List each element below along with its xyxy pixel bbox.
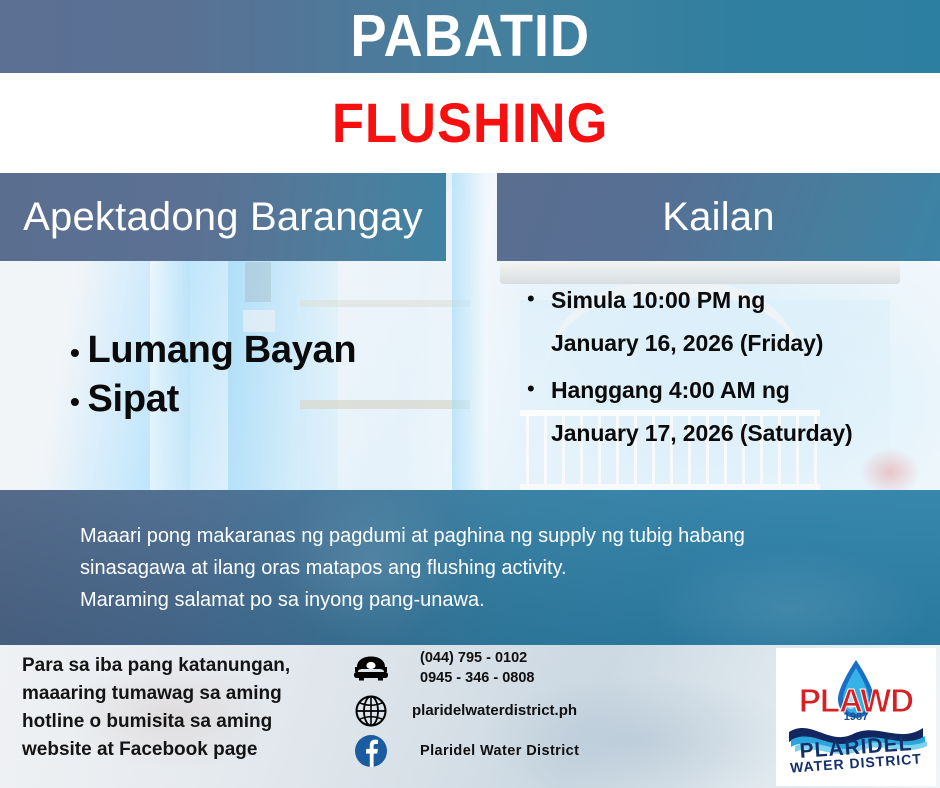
notice-line-1: Maaari pong makaranas ng pagdumi at pagh… bbox=[80, 520, 745, 552]
schedule-start-date: January 16, 2026 (Friday) bbox=[551, 322, 823, 365]
bullet-icon: • bbox=[527, 369, 551, 455]
column-header-left-label: Apektadong Barangay bbox=[23, 195, 423, 239]
plawd-logo: PLAWD 1987 PLARIDEL WATER DISTRICT bbox=[776, 648, 936, 786]
page-title: PABATID bbox=[350, 7, 590, 66]
facebook-icon bbox=[348, 734, 394, 768]
bullet-icon: • bbox=[527, 279, 551, 365]
list-item: • Hanggang 4:00 AM ng January 17, 2026 (… bbox=[527, 369, 930, 455]
list-item: • Lumang Bayan bbox=[70, 327, 480, 376]
schedule-list: • Simula 10:00 PM ng January 16, 2026 (F… bbox=[497, 261, 940, 490]
contact-row-phone: (044) 795 - 0102 0945 - 346 - 0808 bbox=[348, 648, 768, 688]
schedule-entry-end: Hanggang 4:00 AM ng January 17, 2026 (Sa… bbox=[551, 369, 853, 455]
notice-band: Maaari pong makaranas ng pagdumi at pagh… bbox=[0, 490, 940, 645]
schedule-end-date: January 17, 2026 (Saturday) bbox=[551, 412, 853, 455]
schedule-start-time: Simula 10:00 PM ng bbox=[551, 279, 823, 322]
notice-text: Maaari pong makaranas ng pagdumi at pagh… bbox=[0, 520, 745, 616]
list-item: • Sipat bbox=[70, 376, 480, 425]
list-item: • Simula 10:00 PM ng January 16, 2026 (F… bbox=[527, 279, 930, 365]
schedule-entry-start: Simula 10:00 PM ng January 16, 2026 (Fri… bbox=[551, 279, 823, 365]
notice-line-3: Maraming salamat po sa inyong pang-unawa… bbox=[80, 584, 745, 616]
footer-message: Para sa iba pang katanungan, maaaring tu… bbox=[22, 652, 342, 764]
contact-details: (044) 795 - 0102 0945 - 346 - 0808 plari… bbox=[348, 648, 768, 774]
column-header-right-label: Kailan bbox=[662, 195, 774, 239]
page-subtitle: FLUSHING bbox=[332, 95, 609, 151]
phone-mobile: 0945 - 346 - 0808 bbox=[420, 668, 534, 688]
bullet-icon: • bbox=[70, 378, 80, 425]
telephone-icon bbox=[348, 654, 394, 682]
barangay-name: Sipat bbox=[88, 376, 179, 423]
globe-icon bbox=[348, 694, 394, 728]
barangay-name: Lumang Bayan bbox=[88, 327, 357, 374]
affected-barangays-list: • Lumang Bayan • Sipat bbox=[0, 261, 480, 490]
phone-numbers: (044) 795 - 0102 0945 - 346 - 0808 bbox=[394, 648, 534, 688]
website-url[interactable]: plaridelwaterdistrict.ph bbox=[394, 701, 577, 721]
contact-row-facebook[interactable]: Plaridel Water District bbox=[348, 734, 768, 768]
title-band: PABATID bbox=[0, 0, 940, 73]
schedule-end-time: Hanggang 4:00 AM ng bbox=[551, 369, 853, 412]
column-header-affected-barangays: Apektadong Barangay bbox=[0, 173, 446, 261]
bullet-icon: • bbox=[70, 329, 80, 376]
logo-year: 1987 bbox=[781, 712, 931, 723]
notice-line-2: sinasagawa at ilang oras matapos ang flu… bbox=[80, 552, 745, 584]
flushing-advisory-poster: PABATID FLUSHING Apektadong Barangay Kai… bbox=[0, 0, 940, 788]
facebook-page-name[interactable]: Plaridel Water District bbox=[394, 741, 579, 761]
contact-row-website[interactable]: plaridelwaterdistrict.ph bbox=[348, 694, 768, 728]
column-header-schedule: Kailan bbox=[497, 173, 940, 261]
phone-landline: (044) 795 - 0102 bbox=[420, 648, 534, 668]
subtitle-band: FLUSHING bbox=[0, 73, 940, 173]
